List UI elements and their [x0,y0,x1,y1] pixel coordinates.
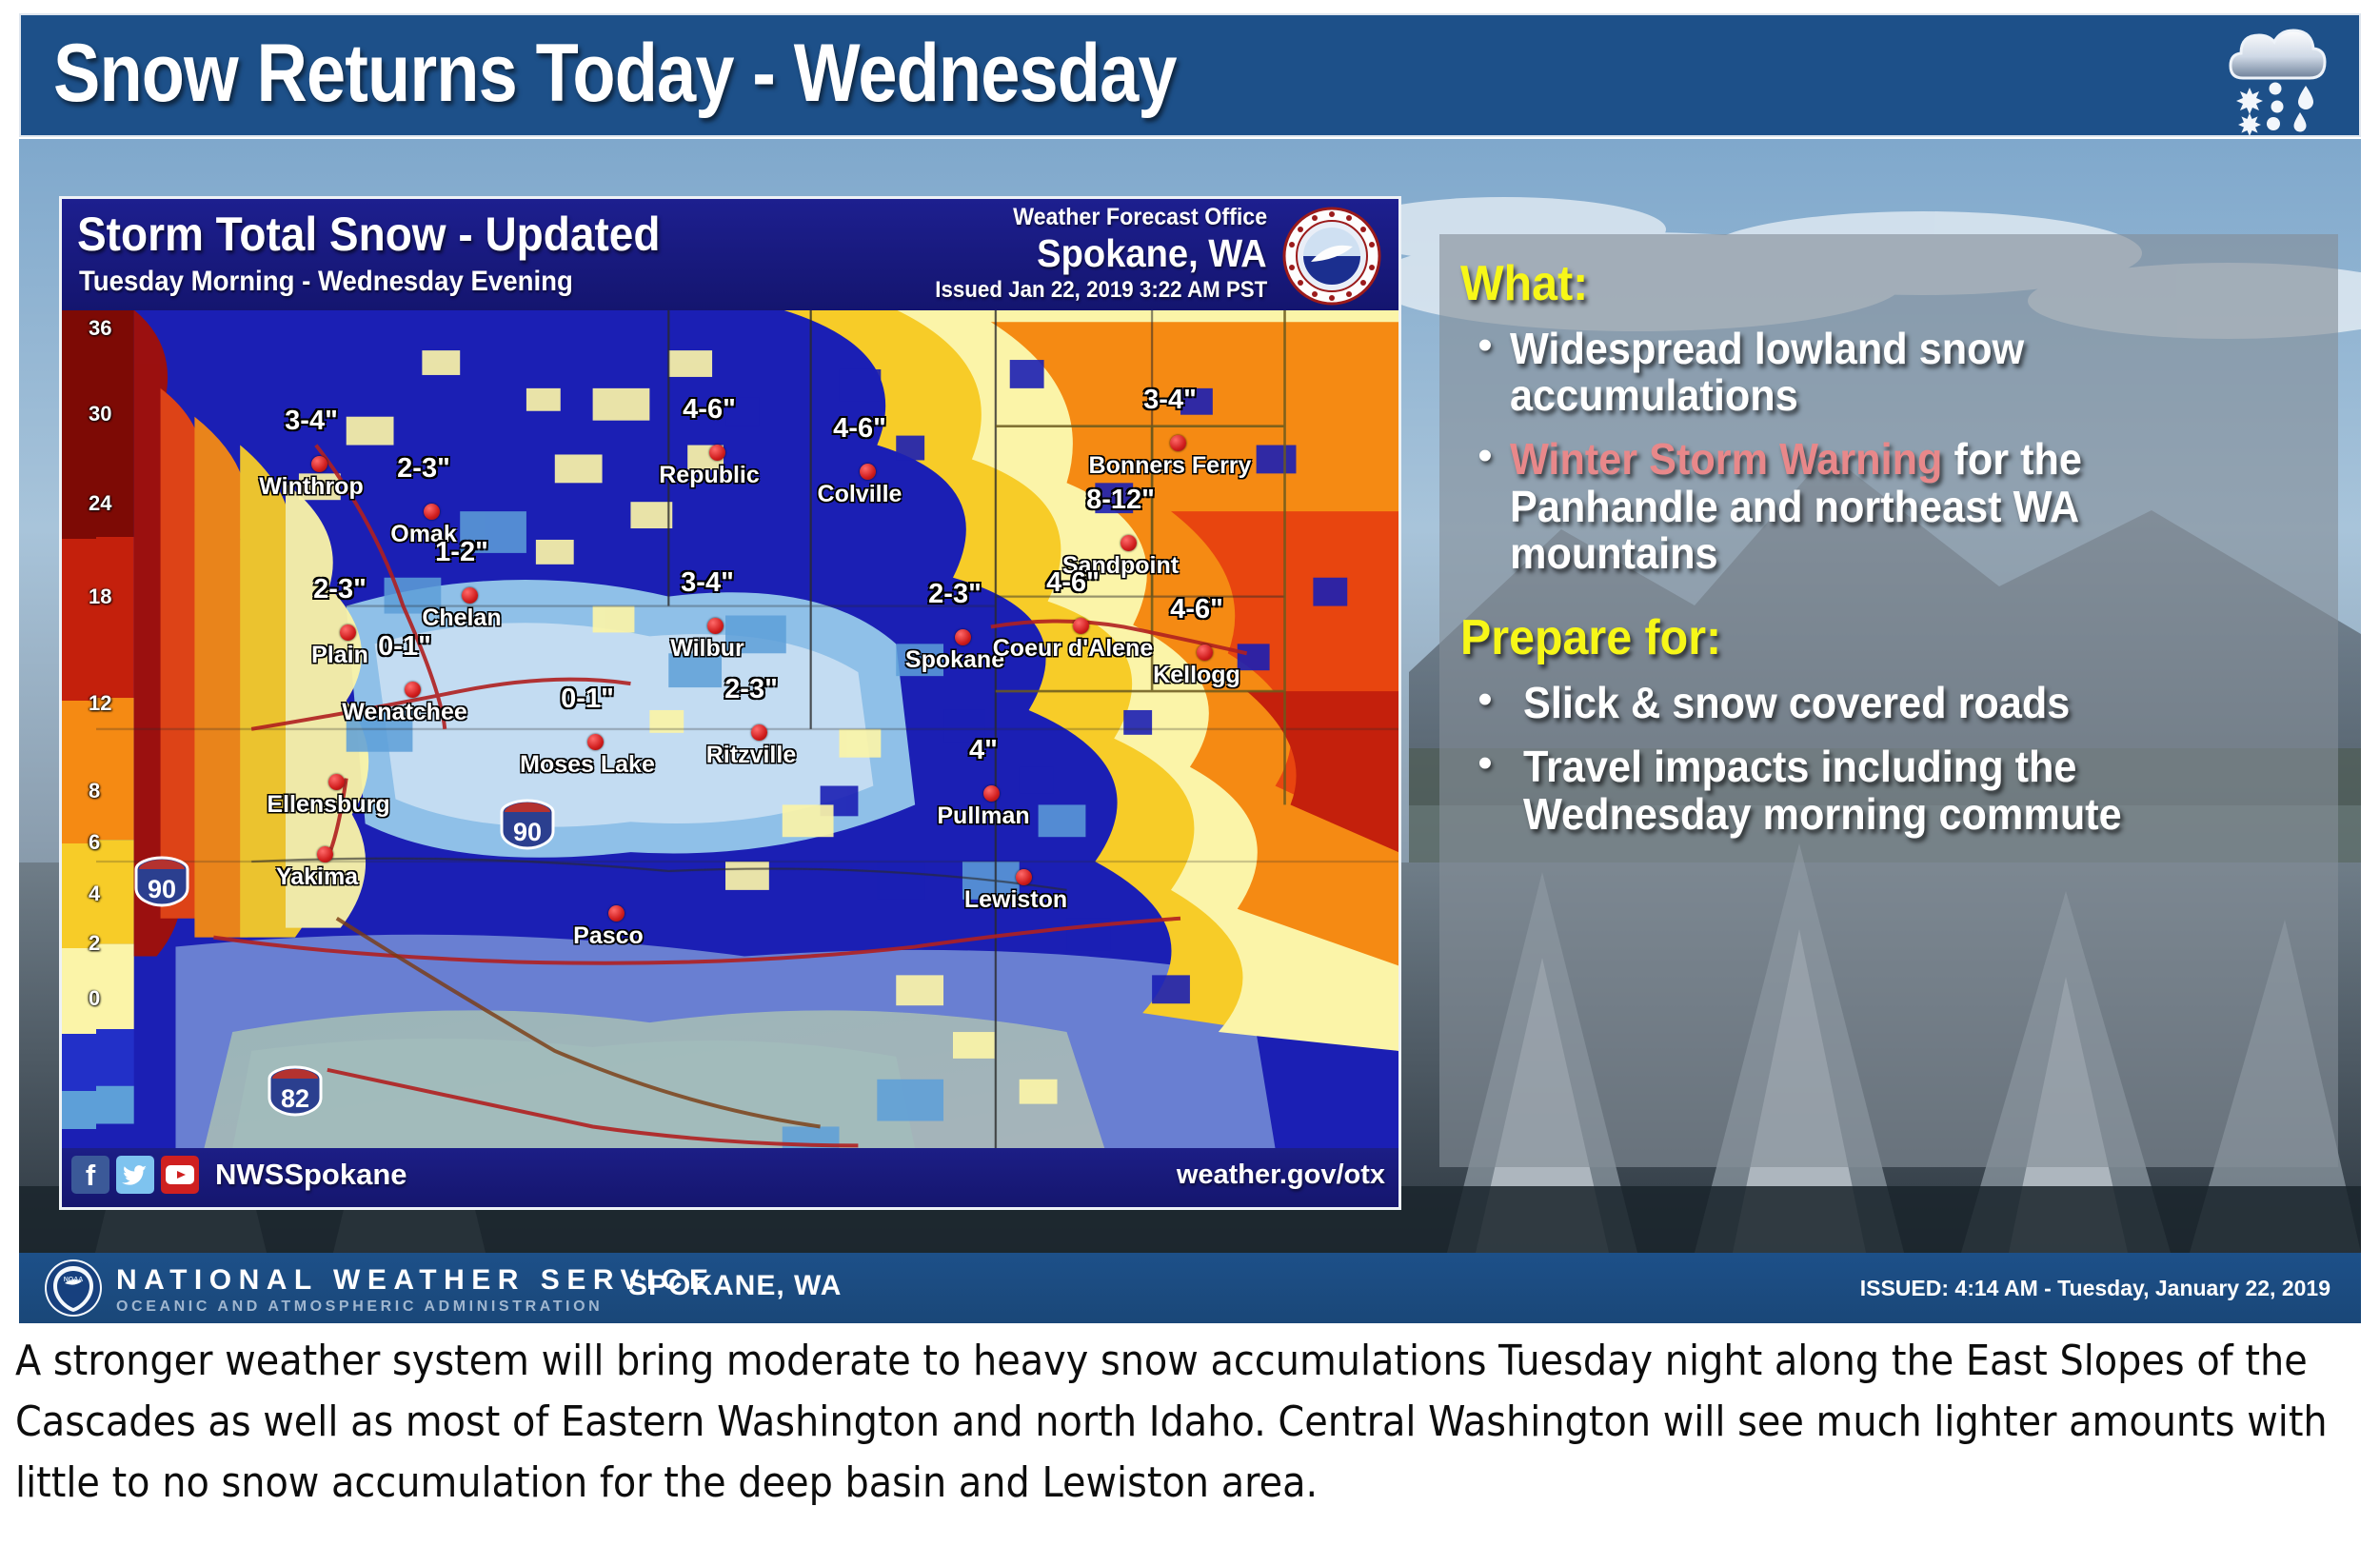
bullet-icon: • [1460,680,1510,726]
city-amount: 1-2" [435,537,488,568]
list-item: • Slick & snow covered roads [1460,680,2313,726]
snow-forecast-map: 36 30 24 18 12 8 6 4 2 0 90 90 [59,196,1401,1210]
i90-shield-west: 90 [134,856,189,907]
prepare-heading: Prepare for: [1460,609,2253,666]
city-dot [955,629,971,645]
city-name: Lewiston [964,886,1067,914]
footer-office: SPOKANE, WA [628,1270,842,1302]
agency-name: NATIONAL WEATHER SERVICE OCEANIC AND ATM… [116,1264,715,1316]
office-location: Spokane, WA [1037,231,1267,276]
what-item-text: Winter Storm Warning for the Panhandle a… [1510,436,2265,577]
city-amount: 2-3" [313,574,367,605]
what-item-text: Widespread lowland snow accumulations [1510,326,2265,419]
map-title: Storm Total Snow - Updated [77,207,660,262]
social-handle: NWSSpokane [215,1158,407,1192]
page-title: Snow Returns Today - Wednesday [53,27,1177,121]
city-amount: 0-1" [561,684,614,715]
city-name: Ritzville [706,742,796,769]
city-dot [707,618,724,634]
svg-text:82: 82 [281,1084,309,1113]
agency-line-1: NATIONAL WEATHER SERVICE [116,1264,715,1297]
city-name: Wenatchee [342,699,467,726]
nws-seal-icon [1282,207,1381,306]
what-list: • Widespread lowland snow accumulations … [1460,326,2313,577]
city-dot [340,624,356,641]
city-amount: 8-12" [1086,485,1155,516]
city-name: Coeur d'Alene [993,635,1153,663]
city-name: Colville [818,481,902,508]
agency-line-2: OCEANIC AND ATMOSPHERIC ADMINISTRATION [116,1298,715,1316]
city-dot [328,774,345,790]
cloud-with-snow-and-rain-icon [2220,19,2334,135]
city-name: Pullman [937,803,1029,830]
city-dot [311,456,327,472]
city-name: Yakima [276,863,358,891]
prepare-item-text: Slick & snow covered roads [1523,680,2070,726]
website-url[interactable]: weather.gov/otx [1177,1160,1385,1191]
city-dot [587,734,604,750]
city-name: Plain [311,642,368,669]
city-amount: 4-6" [683,394,736,426]
list-item: • Winter Storm Warning for the Panhandle… [1460,436,2313,577]
youtube-icon[interactable] [161,1156,199,1194]
list-item: • Travel impacts including the Wednesday… [1460,743,2313,837]
svg-text:NOAA: NOAA [64,1277,84,1283]
city-dot [1073,618,1089,634]
prepare-list: • Slick & snow covered roads • Travel im… [1460,680,2313,838]
office-label: Weather Forecast Office [1013,204,1267,231]
colorbar-ticks: 36 30 24 18 12 8 6 4 2 0 [89,310,174,1129]
main-photo-area: 36 30 24 18 12 8 6 4 2 0 90 90 [19,139,2361,1253]
city-dot [462,587,478,604]
city-name: Spokane [905,646,1004,674]
map-subtitle: Tuesday Morning - Wednesday Evening [79,266,573,298]
city-amount: 3-4" [285,406,338,437]
bullet-icon: • [1460,436,1510,577]
city-dot [709,445,725,461]
city-name: Pasco [573,922,644,950]
city-amount: 4-6" [1046,567,1100,599]
city-dot [424,504,440,520]
city-dot [317,846,333,862]
facebook-icon[interactable]: f [71,1156,109,1194]
map-footer: f NWSSpokane weather.gov/otx [62,1148,1398,1207]
bullet-icon: • [1460,326,1510,419]
impacts-panel: What: • Widespread lowland snow accumula… [1439,234,2338,1167]
what-heading: What: [1460,255,2253,312]
map-issued-time: Issued Jan 22, 2019 3:22 AM PST [935,277,1267,304]
svg-text:f: f [86,1159,96,1192]
city-dot [608,905,625,922]
city-name: Wilbur [670,635,744,663]
city-amount: 3-4" [1143,385,1197,416]
city-name: Republic [659,462,760,489]
city-dot [1197,644,1213,661]
svg-text:90: 90 [513,818,542,846]
noaa-logo-icon: NOAA [44,1259,103,1318]
city-name: Ellensburg [267,791,389,819]
city-dot [405,682,421,698]
footer-issued-time: ISSUED: 4:14 AM - Tuesday, January 22, 2… [1860,1276,2330,1301]
discussion-text: A stronger weather system will bring mod… [15,1331,2363,1559]
city-amount: 2-3" [928,579,982,610]
city-amount: 3-4" [681,567,734,599]
city-amount: 2-3" [397,453,450,485]
city-dot [983,785,1000,802]
city-name: Moses Lake [520,751,655,779]
i82-shield: 82 [268,1065,323,1117]
city-dot [860,464,876,480]
city-name: Chelan [422,605,501,632]
city-amount: 0-1" [378,631,431,663]
city-name: Kellogg [1153,662,1240,689]
city-amount: 4" [969,735,998,766]
city-name: Winthrop [259,473,363,501]
city-amount: 4-6" [833,413,886,445]
title-bar: Snow Returns Today - Wednesday [19,13,2361,137]
city-dot [1016,869,1032,885]
city-dot [1170,435,1186,451]
social-links: f NWSSpokane [71,1156,407,1194]
twitter-icon[interactable] [116,1156,154,1194]
city-name: Bonners Ferry [1089,452,1252,480]
warning-emphasis: Winter Storm Warning [1510,434,1942,484]
city-amount: 4-6" [1170,594,1223,625]
prepare-item-text: Travel impacts including the Wednesday m… [1523,743,2266,837]
nws-footer-bar: NOAA NATIONAL WEATHER SERVICE OCEANIC AN… [19,1253,2361,1323]
weather-graphic: Snow Returns Today - Wednesday [0,0,2380,1566]
svg-text:90: 90 [148,875,176,903]
i90-shield-central: 90 [500,799,555,850]
list-item: • Widespread lowland snow accumulations [1460,326,2313,419]
city-dot [1121,535,1137,551]
city-dot [751,724,767,741]
bullet-icon: • [1460,743,1510,837]
city-amount: 2-3" [724,674,778,705]
